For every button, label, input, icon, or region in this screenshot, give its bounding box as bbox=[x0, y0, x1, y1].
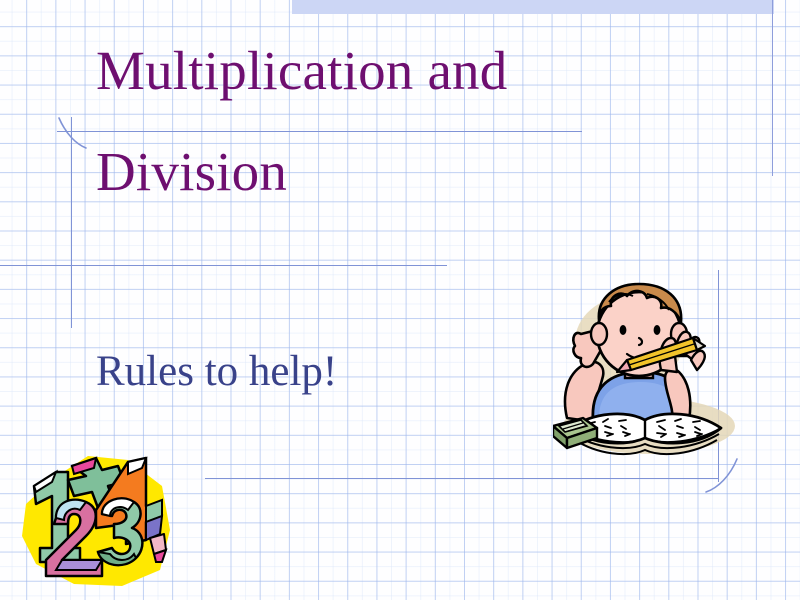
horizontal-rule-middle bbox=[0, 265, 447, 266]
top-banner-strip bbox=[292, 0, 774, 14]
slide-canvas: Multiplication and Division Rules to hel… bbox=[0, 0, 800, 600]
vertical-rule-far-right bbox=[772, 0, 773, 176]
boy-studying-clipart bbox=[553, 276, 741, 462]
slide-title-block: Multiplication and Division bbox=[96, 43, 736, 199]
corner-swoosh-top-left-icon bbox=[50, 112, 94, 157]
horizontal-rule-bottom bbox=[205, 478, 718, 479]
page-title-line-2: Division bbox=[96, 144, 736, 199]
colorful-numbers-clipart bbox=[10, 444, 182, 600]
slide-subtitle: Rules to help! bbox=[96, 350, 337, 393]
page-title-line-1: Multiplication and bbox=[96, 43, 736, 98]
